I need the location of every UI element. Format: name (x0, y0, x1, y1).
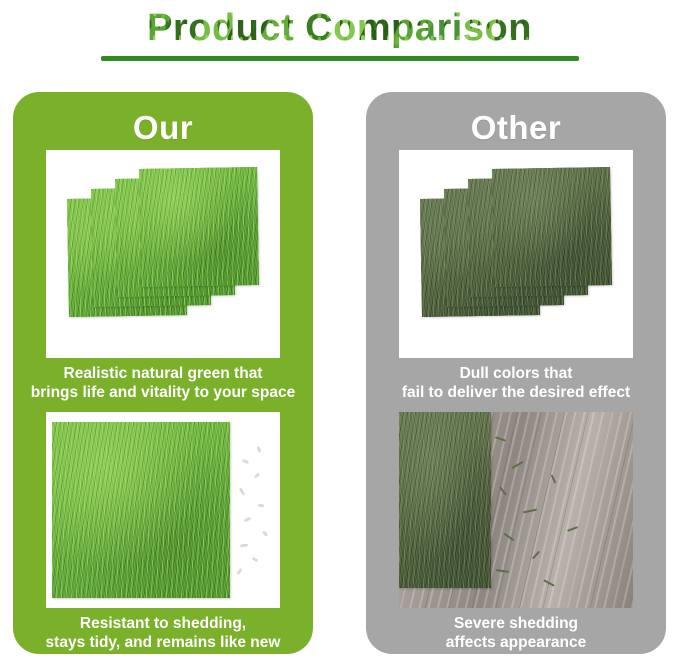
other-bottom-caption-line1: Severe shedding (374, 614, 658, 633)
other-bottom-caption-line2: affects appearance (374, 633, 658, 652)
other-bottom-image (399, 412, 633, 608)
debris-fleck (239, 487, 246, 495)
grass-swatch (492, 167, 612, 287)
debris-fleck (254, 472, 261, 478)
grass-mat (52, 422, 230, 598)
other-top-caption: Dull colors that fail to deliver the des… (374, 364, 658, 402)
our-grass-stack (46, 150, 280, 358)
debris-fleck (257, 446, 262, 453)
other-grass-stack (399, 150, 633, 358)
page-title-block: Product Comparison (0, 6, 679, 61)
debris-fleck (252, 557, 259, 563)
debris-fleck (262, 530, 268, 536)
other-top-image (399, 150, 633, 358)
debris-fleck (258, 504, 264, 508)
debris-fleck (236, 568, 242, 575)
debris-fleck (240, 543, 248, 547)
our-bottom-image (46, 412, 280, 608)
other-top-caption-line1: Dull colors that (374, 364, 658, 383)
page-title: Product Comparison (143, 6, 536, 50)
our-bottom-caption-line2: stays tidy, and remains like new (21, 633, 305, 652)
other-bottom-caption: Severe shedding affects appearance (374, 614, 658, 652)
our-top-caption-line2: brings life and vitality to your space (21, 383, 305, 402)
our-bottom-caption-line1: Resistant to shedding, (21, 614, 305, 633)
panel-other-heading: Other (366, 110, 666, 146)
panel-our-heading: Our (13, 110, 313, 146)
debris-fleck (244, 517, 252, 523)
our-top-caption: Realistic natural green that brings life… (21, 364, 305, 402)
panel-other: Other Dull colors that fail to deliver t… (366, 92, 666, 654)
our-bottom-caption: Resistant to shedding, stays tidy, and r… (21, 614, 305, 652)
grass-mat (399, 412, 491, 588)
grass-swatch (139, 167, 259, 287)
our-top-caption-line1: Realistic natural green that (21, 364, 305, 383)
debris-fleck (242, 459, 250, 465)
panel-our: Our Realistic natural green that brings … (13, 92, 313, 654)
other-top-caption-line2: fail to deliver the desired effect (374, 383, 658, 402)
title-underline (101, 56, 579, 61)
our-top-image (46, 150, 280, 358)
